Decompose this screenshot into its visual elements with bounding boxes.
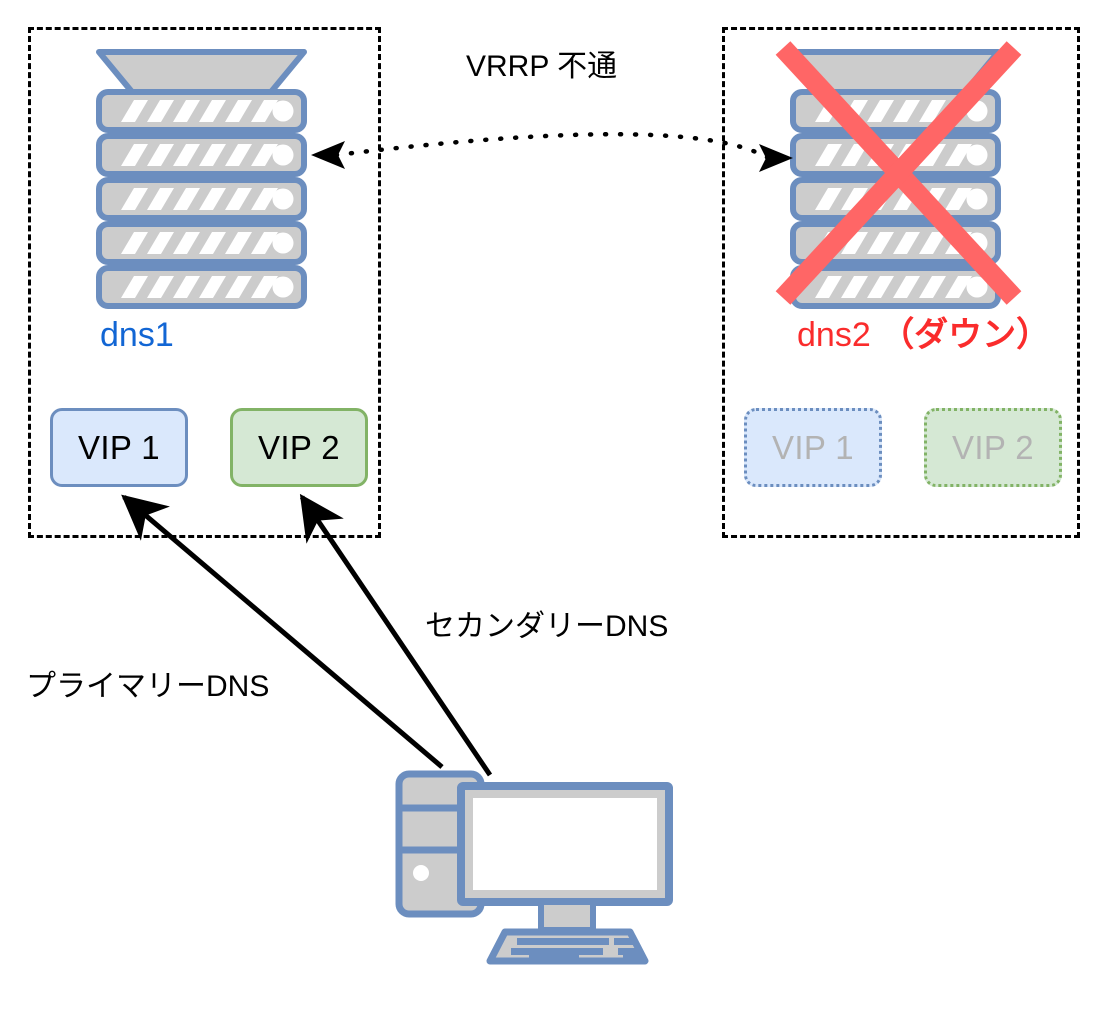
diagram-canvas: VIP 1 VIP 2 VIP 1 VIP 2 dns1 dns2 （ダウン） … [0, 0, 1107, 1020]
vip-chip-dns1-vip2[interactable]: VIP 2 [230, 408, 368, 487]
vip-chip-dns1-vip1[interactable]: VIP 1 [50, 408, 188, 487]
primary-dns-link-label: プライマリーDNS [26, 672, 269, 702]
vrrp-link [311, 134, 793, 172]
node-label-dns2-name: dns2 [797, 316, 871, 354]
vip-chip-label: VIP 1 [772, 429, 854, 467]
node-status-dns2-down: （ダウン） [880, 316, 1050, 354]
desktop-computer-icon [399, 774, 669, 961]
secondary-dns-link-label: セカンダリーDNS [425, 612, 668, 642]
vip-chip-label: VIP 2 [258, 429, 340, 467]
node-label-dns1: dns1 [100, 318, 174, 352]
vrrp-link-label: VRRP 不通 [466, 52, 617, 82]
vip-chip-label: VIP 2 [952, 429, 1034, 467]
vip-chip-label: VIP 1 [78, 429, 160, 467]
vip-chip-dns2-vip1[interactable]: VIP 1 [744, 408, 882, 487]
node-label-dns2: dns2 （ダウン） [797, 318, 1050, 352]
vip-chip-dns2-vip2[interactable]: VIP 2 [924, 408, 1062, 487]
